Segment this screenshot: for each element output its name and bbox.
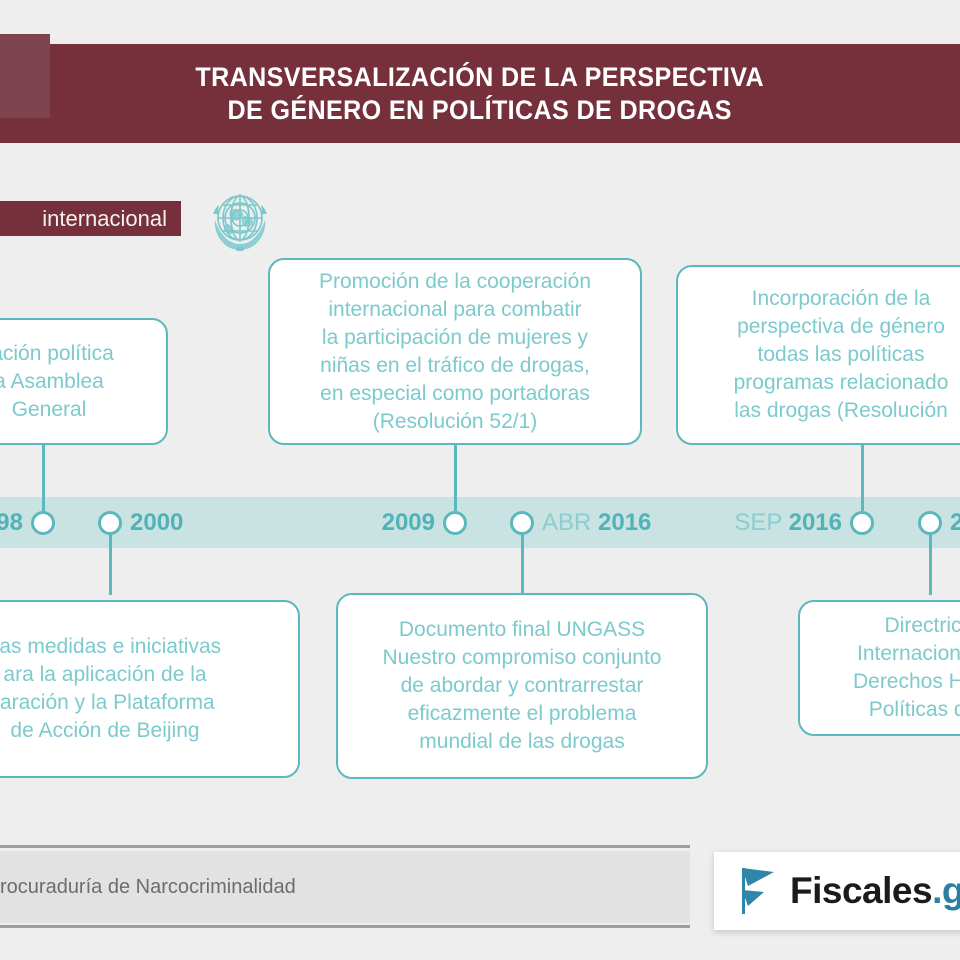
timeline-dot-2009[interactable] [443,511,467,535]
timeline-year-text: 2016 [598,509,651,536]
event-card-below-0: vas medidas e iniciativas ara la aplicac… [0,600,300,778]
infographic-canvas: TRANSVERSALIZACIÓN DE LA PERSPECTIVA DE … [0,0,960,960]
brand-logo[interactable]: Fiscales.g [714,852,960,930]
timeline-connector [929,535,932,595]
timeline-year-label: 98 [0,508,23,538]
timeline-year-label: 2000 [130,508,183,538]
timeline-connector [521,535,524,595]
event-card-text: Promoción de la cooperación internaciona… [309,268,601,436]
event-card-above-1: Promoción de la cooperación internaciona… [268,258,642,445]
brand-wordmark: Fiscales.g [790,871,960,911]
timeline-dot-2[interactable] [918,511,942,535]
event-card-text: vas medidas e iniciativas ara la aplicac… [0,633,231,745]
event-card-above-2: Incorporación de la perspectiva de géner… [676,265,960,445]
timeline-connector [109,535,112,595]
timeline-connector [454,445,457,511]
timeline-year-label: 2 [950,508,960,538]
event-card-below-2: Directric Internacionale Derechos Hum Po… [798,600,960,736]
page-title: TRANSVERSALIZACIÓN DE LA PERSPECTIVA DE … [196,61,765,127]
timeline-dot-2000[interactable] [98,511,122,535]
event-card-text: Directric Internacionale Derechos Hum Po… [843,612,960,724]
timeline-month-text: SEP [734,509,788,536]
footer-divider-bottom [0,925,690,928]
header-accent-block [0,34,50,118]
timeline-connector [42,445,45,511]
footer-credit-text: rocuraduría de Narcocriminalidad [0,875,296,899]
event-card-text: Incorporación de la perspectiva de géner… [724,285,959,425]
brand-name-text: Fiscales [790,870,932,911]
timeline-month-text: ABR [542,509,598,536]
event-card-text: Documento final UNGASS Nuestro compromis… [373,616,672,756]
scope-badge: internacional [0,201,181,236]
header-bar: TRANSVERSALIZACIÓN DE LA PERSPECTIVA DE … [0,44,960,143]
timeline-year-text: 2 [950,509,960,536]
timeline-dot-abr-2016[interactable] [510,511,534,535]
timeline-year-label: SEP 2016 [734,508,842,538]
timeline-year-text: 2000 [130,509,183,536]
event-card-below-1: Documento final UNGASS Nuestro compromis… [336,593,708,779]
timeline-year-text: 2016 [789,509,842,536]
timeline-year-text: 2009 [382,509,435,536]
timeline-year-label: 2009 [382,508,435,538]
event-card-above-0: ración política a Asamblea General [0,318,168,445]
timeline-connector [861,445,864,511]
united-nations-emblem-icon [200,188,280,256]
scope-badge-label: internacional [42,208,167,230]
footer-divider-top [0,845,690,848]
event-card-text: ración política a Asamblea General [0,340,124,424]
timeline-year-label: ABR 2016 [542,508,651,538]
brand-domain-text: .g [932,870,960,911]
fiscales-flag-icon [738,866,778,916]
timeline-dot-98[interactable] [31,511,55,535]
timeline-year-text: 98 [0,509,23,536]
footer-strip: rocuraduría de Narcocriminalidad [0,851,690,923]
timeline-dot-sep-2016[interactable] [850,511,874,535]
